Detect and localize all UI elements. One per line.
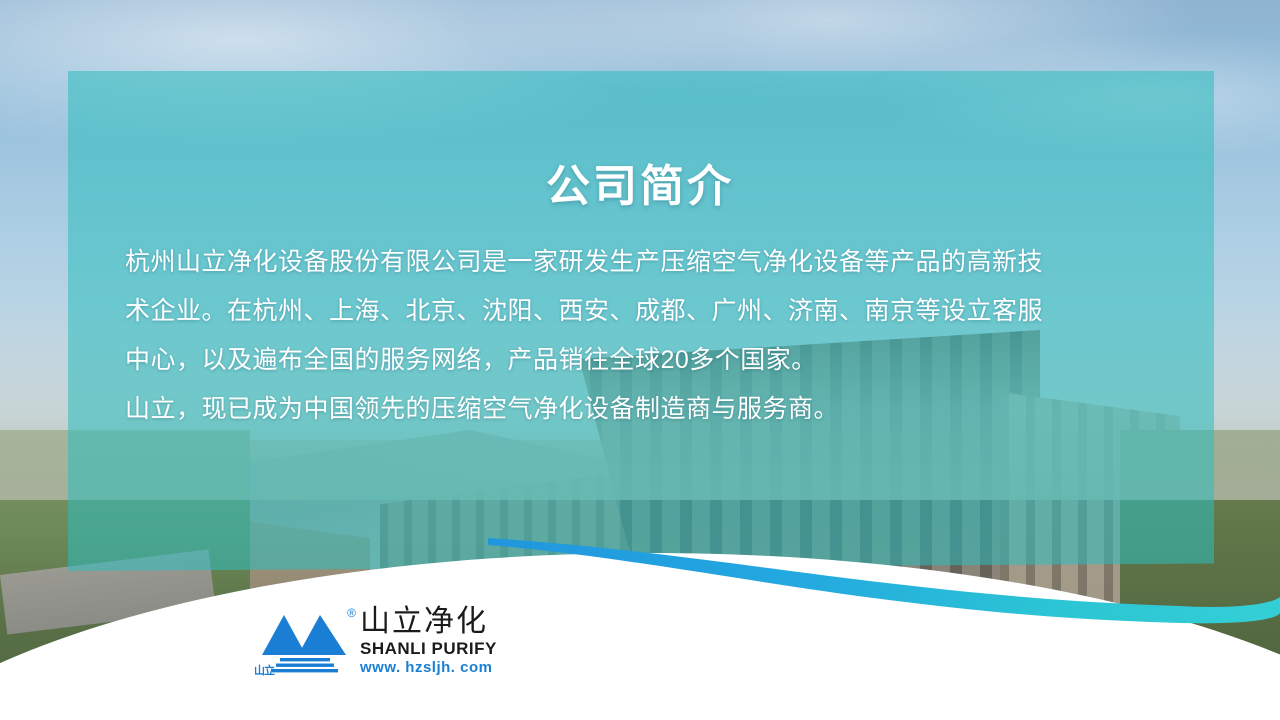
company-logo: ® 山立 山立净化 SHANLI PURIFY www. hzsljh. com — [258, 607, 497, 677]
mountain-logo-icon: ® 山立 — [258, 607, 350, 677]
body-line-4: 山立，现已成为中国领先的压缩空气净化设备制造商与服务商。 — [125, 385, 1125, 434]
page-title: 公司简介 — [0, 150, 1280, 214]
logo-website-url: www. hzsljh. com — [360, 660, 497, 675]
logo-company-name-cn: 山立净化 — [360, 607, 497, 637]
logo-mark-label: 山立 — [254, 666, 274, 677]
body-line-3: 中心，以及遍布全国的服务网络，产品销往全球20多个国家。 — [125, 336, 1125, 385]
presentation-slide: 公司简介 杭州山立净化设备股份有限公司是一家研发生产压缩空气净化设备等产品的高新… — [0, 0, 1280, 720]
registered-trademark-icon: ® — [347, 607, 356, 619]
logo-text-block: 山立净化 SHANLI PURIFY www. hzsljh. com — [360, 607, 497, 677]
logo-company-name-en: SHANLI PURIFY — [360, 640, 497, 657]
body-line-2: 术企业。在杭州、上海、北京、沈阳、西安、成都、广州、济南、南京等设立客服 — [125, 287, 1125, 336]
body-line-1: 杭州山立净化设备股份有限公司是一家研发生产压缩空气净化设备等产品的高新技 — [125, 238, 1125, 287]
body-text-block: 杭州山立净化设备股份有限公司是一家研发生产压缩空气净化设备等产品的高新技 术企业… — [125, 238, 1125, 434]
